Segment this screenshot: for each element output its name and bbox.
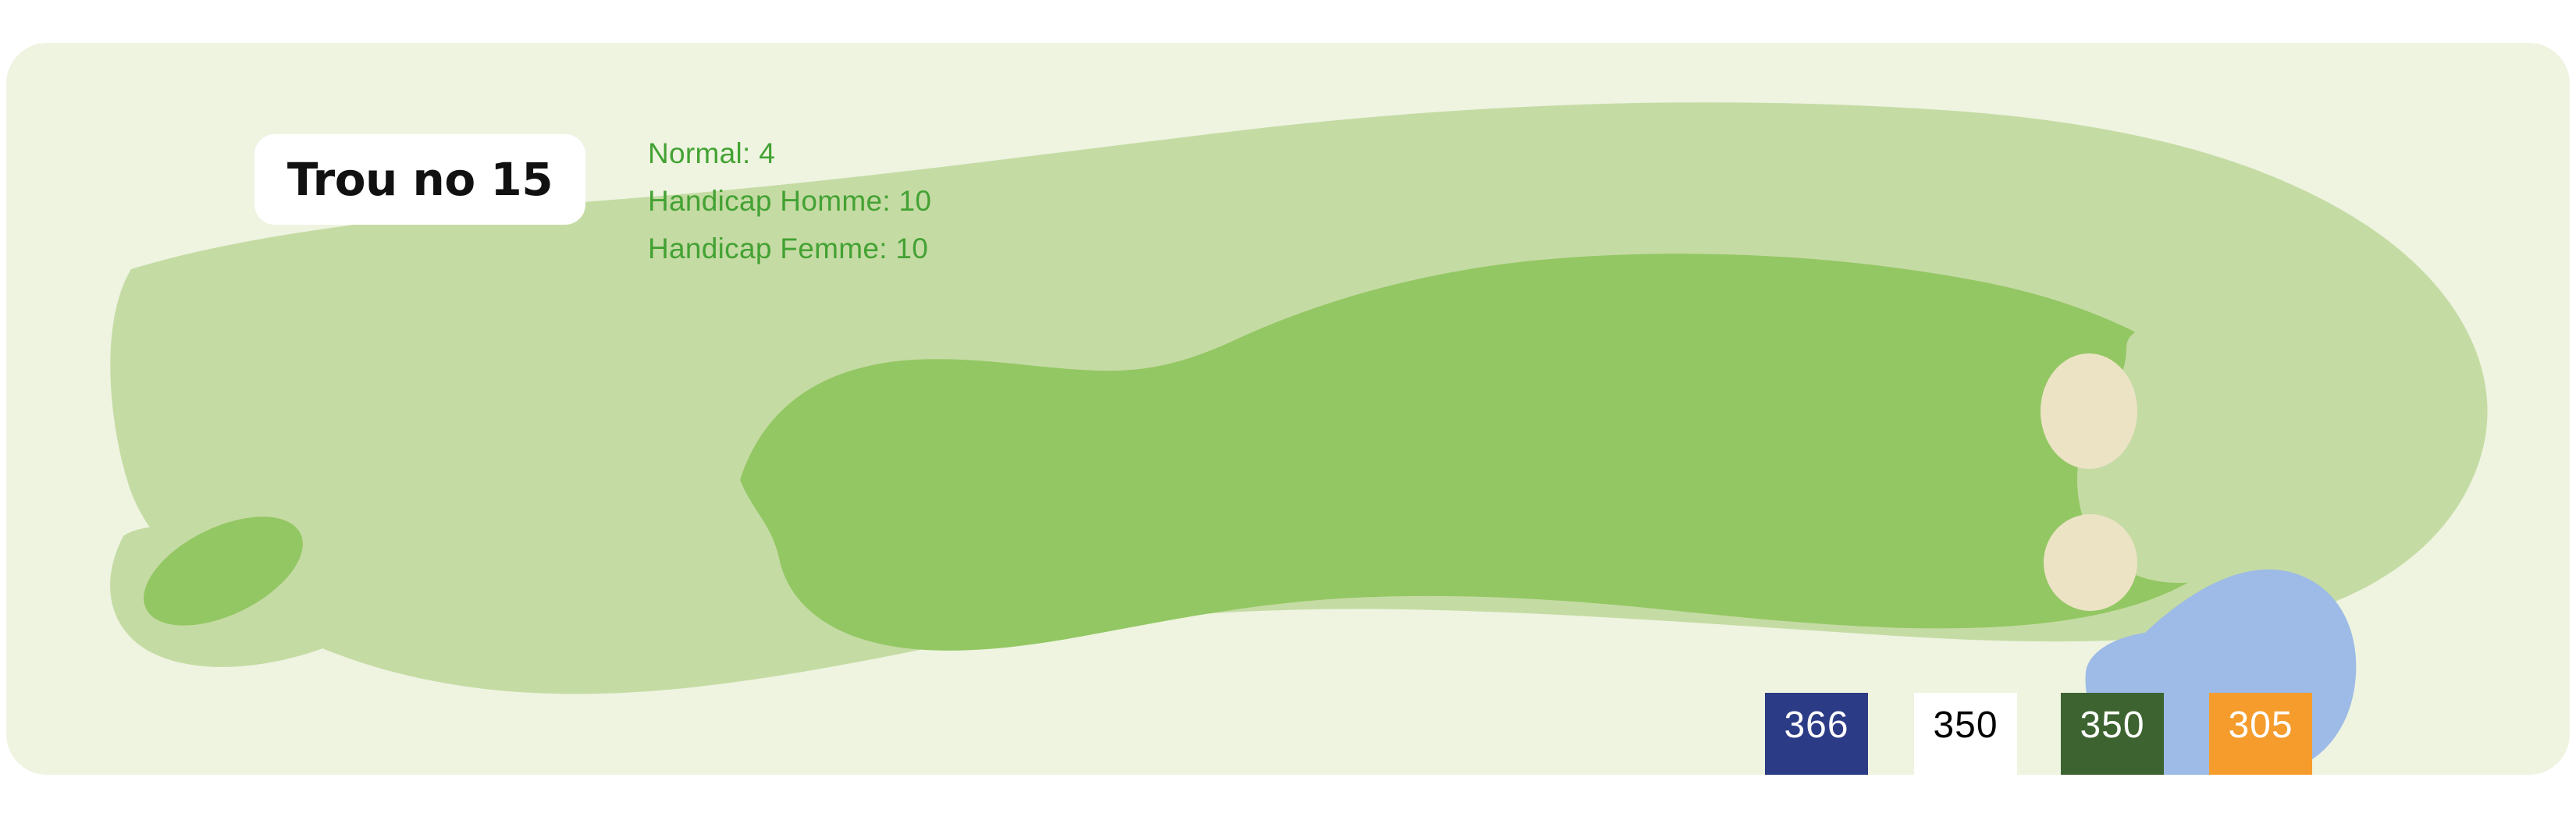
tee-marker-blue[interactable]: 366: [1765, 693, 1868, 775]
hole-diagram-screen: Trou no 15 Normal: 4 Handicap Homme: 10 …: [0, 0, 2576, 820]
tee-marker-white[interactable]: 350: [1914, 693, 2017, 775]
bunker-lower-shape: [2044, 514, 2137, 611]
tee-distance-blue: 366: [1784, 693, 1848, 744]
hole-info-block: Normal: 4 Handicap Homme: 10 Handicap Fe…: [648, 139, 931, 263]
info-handicap-women: Handicap Femme: 10: [648, 234, 931, 263]
info-handicap-men: Handicap Homme: 10: [648, 186, 931, 215]
bunker-upper-shape: [2041, 353, 2137, 469]
tee-distance-green: 350: [2080, 693, 2144, 744]
tee-distance-orange: 305: [2228, 693, 2293, 744]
hole-card: Trou no 15 Normal: 4 Handicap Homme: 10 …: [6, 43, 2570, 775]
hole-badge-label: Trou no 15: [287, 153, 553, 206]
tee-distance-white: 350: [1933, 693, 1998, 744]
hole-number-badge: Trou no 15: [254, 134, 585, 225]
tee-marker-orange[interactable]: 305: [2209, 693, 2312, 775]
info-par: Normal: 4: [648, 139, 931, 168]
tee-marker-green[interactable]: 350: [2061, 693, 2164, 775]
